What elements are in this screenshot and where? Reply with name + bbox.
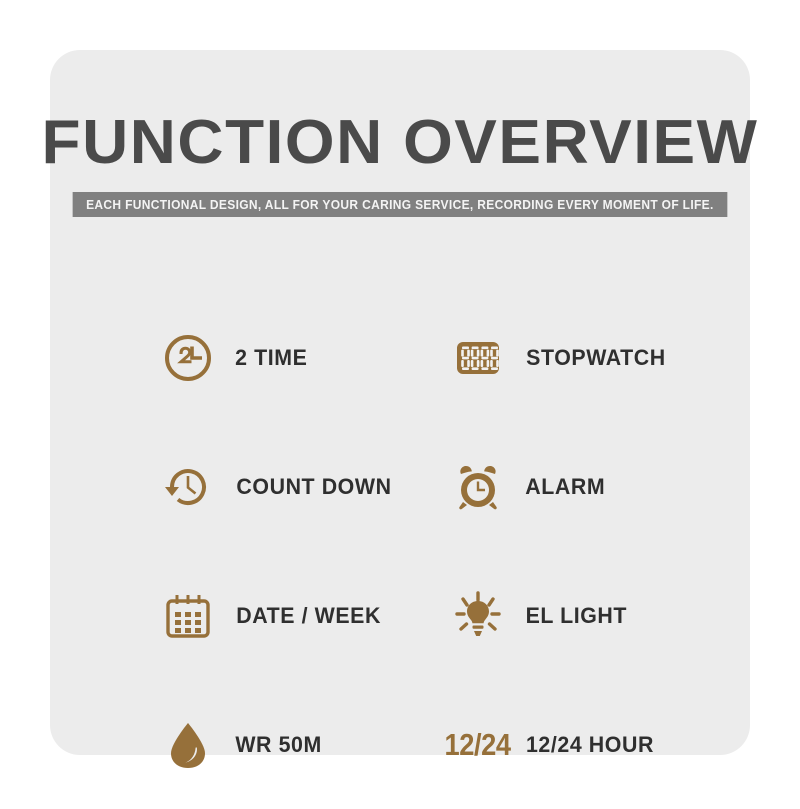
card-header: FUNCTION OVERVIEW EACH FUNCTIONAL DESIGN… (50, 112, 750, 217)
water-drop-icon (160, 717, 216, 773)
calendar-icon (160, 588, 216, 644)
feature-label: EL LIGHT (526, 603, 627, 629)
lightbulb-icon (450, 588, 506, 644)
feature-item-count-down[interactable]: COUNT DOWN (160, 422, 450, 551)
hour-format-icon-text: 12/24 (445, 727, 511, 763)
feature-item-alarm[interactable]: ALARM (450, 422, 740, 551)
page-title: FUNCTION OVERVIEW (40, 112, 761, 174)
feature-item-el-light[interactable]: EL LIGHT (450, 551, 740, 680)
stopwatch-digital-icon (450, 330, 506, 386)
feature-label: 12/24 HOUR (526, 732, 654, 758)
feature-label: 2 TIME (235, 345, 307, 371)
subtitle-banner: EACH FUNCTIONAL DESIGN, ALL FOR YOUR CAR… (73, 192, 727, 217)
two-time-clock-icon (160, 330, 216, 386)
screenshot-root: FUNCTION OVERVIEW EACH FUNCTIONAL DESIGN… (0, 0, 800, 800)
feature-label: DATE / WEEK (236, 603, 381, 629)
feature-item-2-time[interactable]: 2 TIME (160, 293, 450, 422)
feature-label: WR 50M (235, 732, 321, 758)
function-overview-card: FUNCTION OVERVIEW EACH FUNCTIONAL DESIGN… (50, 50, 750, 755)
feature-item-stopwatch[interactable]: STOPWATCH (450, 293, 740, 422)
alarm-clock-icon (450, 459, 506, 515)
countdown-clock-icon (160, 459, 216, 515)
feature-item-12-24-hour[interactable]: 12/24 12/24 HOUR (450, 680, 740, 809)
feature-item-wr-50m[interactable]: WR 50M (160, 680, 450, 809)
feature-label: COUNT DOWN (236, 474, 391, 500)
hour-format-icon: 12/24 (450, 717, 506, 773)
feature-label: STOPWATCH (526, 345, 666, 371)
feature-item-date-week[interactable]: DATE / WEEK (160, 551, 450, 680)
feature-grid: 2 TIME (160, 293, 740, 809)
feature-label: ALARM (525, 474, 605, 500)
subtitle-container: EACH FUNCTIONAL DESIGN, ALL FOR YOUR CAR… (50, 192, 750, 217)
